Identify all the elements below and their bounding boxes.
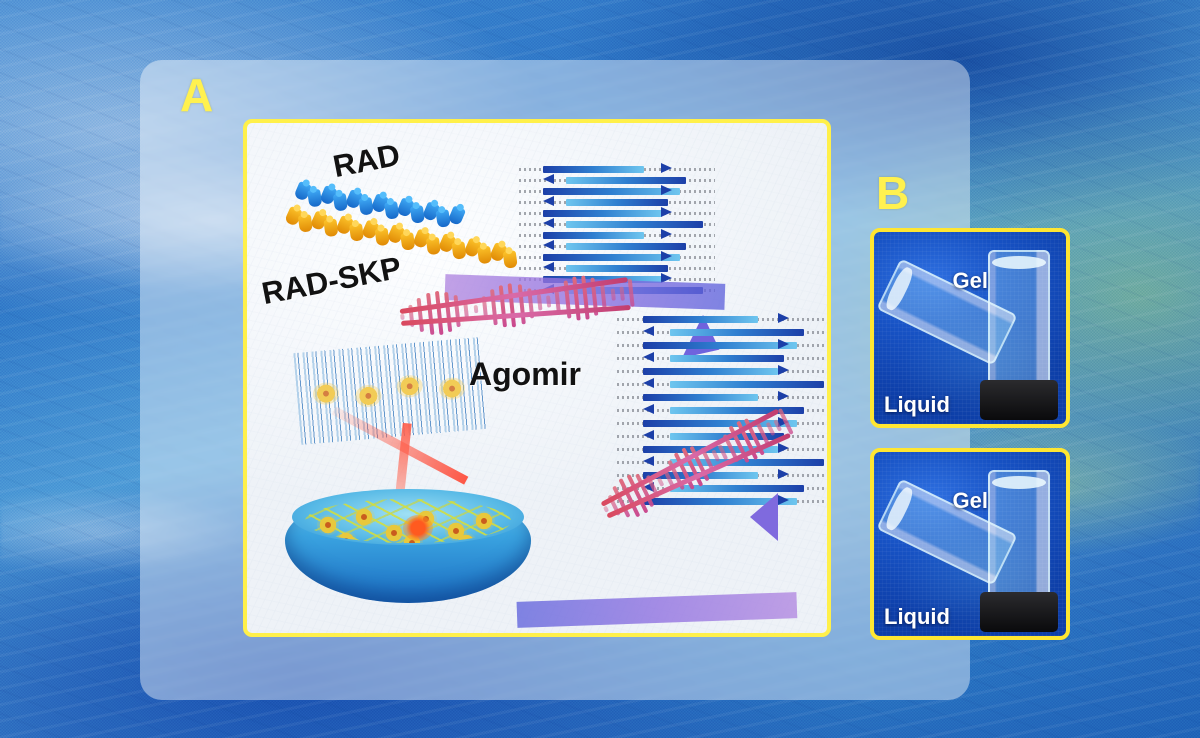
photo-label-gel-top: Gel: [953, 268, 988, 294]
nanofiber-scaffold-icon: [293, 337, 486, 445]
vial-cap-icon: [980, 592, 1058, 632]
vial-photo-top: Gel Liquid: [870, 228, 1070, 428]
photo-label-liquid-bottom: Liquid: [884, 604, 950, 630]
figure-canvas: A B RAD RAD-SKP Ago: [0, 0, 1200, 738]
vial-photo-bottom: Gel Liquid: [870, 448, 1070, 640]
panel-a-schematic: RAD RAD-SKP Agomir: [243, 119, 831, 637]
photo-label-liquid-top: Liquid: [884, 392, 950, 418]
vial-cap-icon: [980, 380, 1058, 420]
petri-dish-icon: [285, 491, 531, 603]
panel-label-b: B: [876, 170, 909, 216]
laser-hotspot-icon: [403, 515, 433, 541]
panel-label-a: A: [180, 72, 213, 118]
label-agomir: Agomir: [469, 356, 581, 393]
purple-arrow-head-dish-icon: [750, 493, 778, 541]
photo-label-gel-bottom: Gel: [953, 488, 988, 514]
